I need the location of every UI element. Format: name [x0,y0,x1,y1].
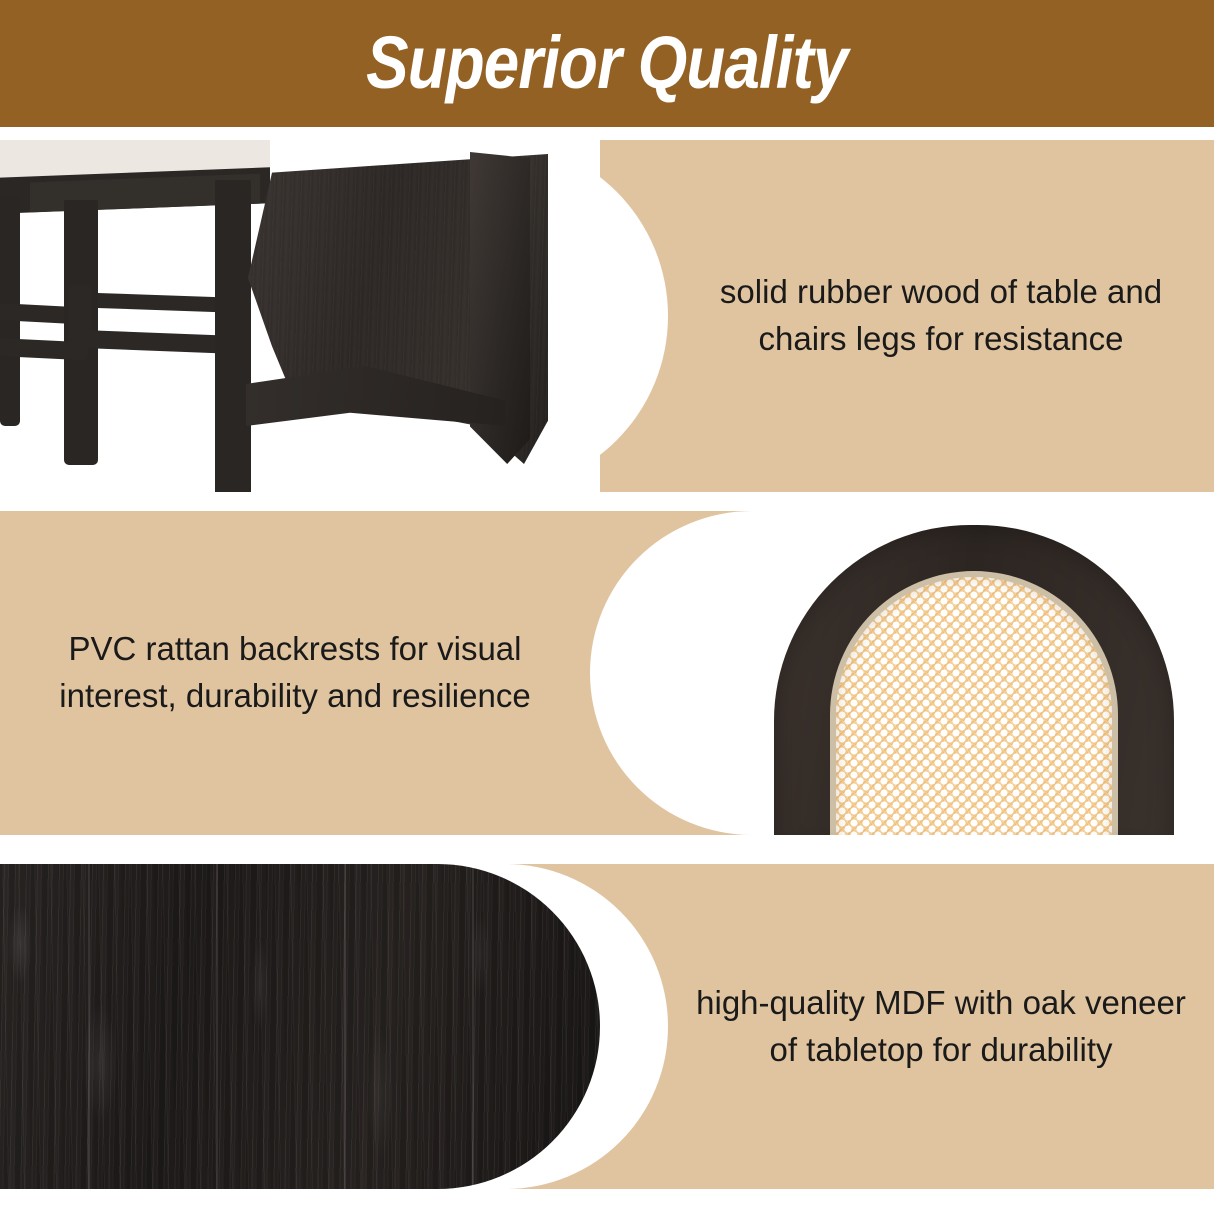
feature-caption-2: PVC rattan backrests for visual interest… [0,511,590,835]
infographic-page: Superior Quality solid [0,0,1214,1214]
feature-caption-3: high-quality MDF with oak veneer of tabl… [668,864,1214,1189]
image-clip-1 [0,140,600,492]
feature-section-3: high-quality MDF with oak veneer of tabl… [0,864,1214,1189]
image-clip-3 [0,864,600,1189]
chair-leg-front [215,180,251,492]
feature-section-2: PVC rattan backrests for visual interest… [0,511,1214,835]
rattan-chair-backrest-photo [774,525,1174,835]
tabletop-wood-grain [0,864,600,1189]
image-clip-2 [654,511,1214,835]
feature-caption-1: solid rubber wood of table and chairs le… [668,140,1214,492]
chair-stretcher-upper [80,292,230,312]
oak-veneer-tabletop-photo [0,864,600,1189]
feature-section-1: solid rubber wood of table and chairs le… [0,140,1214,492]
header-banner: Superior Quality [0,0,1214,127]
page-title: Superior Quality [366,26,847,100]
rattan-cane-webbing [836,577,1112,835]
dining-chair-and-table-leg-photo [0,140,600,492]
chair-stretcher-vertical [68,285,92,345]
